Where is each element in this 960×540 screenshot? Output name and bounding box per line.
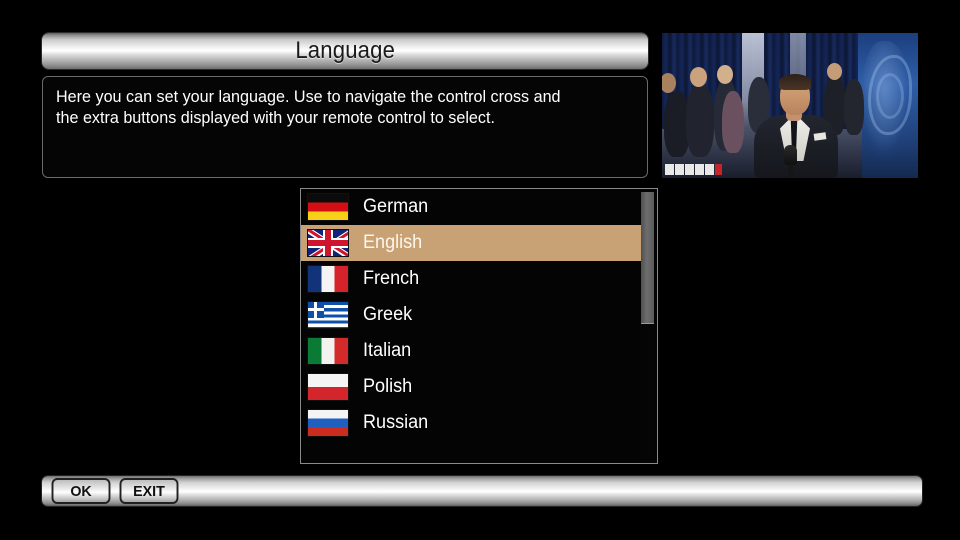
ok-button-label: OK [70, 483, 91, 500]
tv-settings-screen: Language Here you can set your language.… [0, 0, 960, 540]
video-crowd-figure [722, 91, 744, 153]
video-preview[interactable] [662, 33, 918, 178]
exit-button[interactable]: EXIT [120, 478, 179, 504]
exit-button-label: EXIT [133, 483, 165, 500]
language-list: German English French Greek [301, 189, 641, 441]
language-list-panel[interactable]: German English French Greek [300, 188, 658, 464]
video-crowd-figure [827, 63, 842, 80]
list-item-italian[interactable]: Italian [301, 333, 641, 369]
video-crowd-figure [686, 83, 714, 157]
video-crowd-figure [690, 67, 707, 87]
video-subject-hair [779, 74, 811, 90]
flag-gb-icon [307, 229, 349, 257]
title-bar: Language [42, 33, 648, 69]
description-panel: Here you can set your language. Use to n… [42, 76, 648, 178]
list-item-label: Greek [363, 304, 412, 326]
video-crowd-figure [844, 79, 864, 135]
list-item-french[interactable]: French [301, 261, 641, 297]
list-item-label: French [363, 268, 419, 290]
flag-fr-icon [307, 265, 349, 293]
list-item-label: Polish [363, 376, 412, 398]
flag-de-icon [307, 193, 349, 221]
flag-pl-icon [307, 373, 349, 401]
ok-button[interactable]: OK [52, 478, 111, 504]
flag-gr-icon [307, 301, 349, 329]
list-item-german[interactable]: German [301, 189, 641, 225]
list-item-label: English [363, 232, 422, 254]
description-text: Here you can set your language. Use to n… [56, 86, 605, 128]
page-title: Language [295, 37, 395, 65]
list-item-polish[interactable]: Polish [301, 369, 641, 405]
list-item-label: Italian [363, 340, 411, 362]
list-item-label: German [363, 196, 428, 218]
list-item-label: Russian [363, 412, 428, 434]
list-item-greek[interactable]: Greek [301, 297, 641, 333]
flag-ru-icon [307, 409, 349, 437]
video-microphone [784, 145, 797, 165]
list-item-english[interactable]: English [301, 225, 641, 261]
video-backdrop-swirl-inner [876, 73, 904, 119]
list-scrollbar-track[interactable] [641, 192, 654, 462]
channel-logo-icon [665, 163, 722, 175]
list-scrollbar-thumb[interactable] [641, 192, 654, 324]
list-item-russian[interactable]: Russian [301, 405, 641, 441]
video-crowd-figure [717, 65, 733, 84]
flag-it-icon [307, 337, 349, 365]
bottom-toolbar: OK EXIT [42, 476, 922, 506]
